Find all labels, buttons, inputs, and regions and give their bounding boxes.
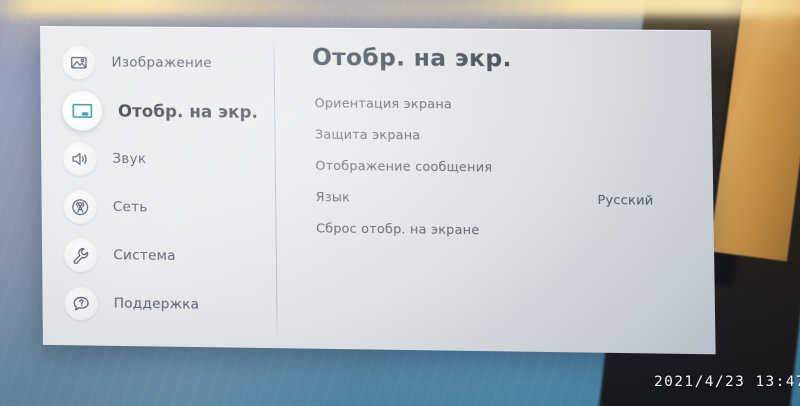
network-antenna-icon [64, 190, 97, 223]
menu-item-reset-osd[interactable]: Сброс отобр. на экране [275, 212, 714, 248]
menu-item-label: Сброс отобр. на экране [316, 220, 480, 237]
menu-item-label: Отображение сообщения [315, 158, 492, 175]
speaker-icon [63, 142, 96, 175]
ceiling-light-strip [0, 0, 800, 16]
menu-item-screen-protection[interactable]: Защита экрана [274, 118, 712, 153]
sidebar-item-label: Система [113, 247, 176, 264]
sidebar-item-label: Звук [112, 151, 146, 167]
osd-surface: Изображение Отобр. на экр. [40, 26, 716, 354]
sidebar-item-support[interactable]: Поддержка [42, 279, 276, 330]
sidebar-item-system[interactable]: Система [42, 230, 276, 281]
sidebar-item-label: Поддержка [114, 296, 200, 313]
menu-item-label: Ориентация экрана [315, 95, 453, 111]
sidebar-item-on-screen-display[interactable]: Отобр. на экр. [41, 86, 275, 136]
page-title: Отобр. на экр. [312, 45, 512, 73]
menu-item-value: Русский [597, 192, 684, 208]
wrench-icon [64, 238, 97, 272]
menu-item-message-display[interactable]: Отображение сообщения [275, 149, 713, 185]
camera-timestamp: 2021/4/23 13:47 [654, 374, 800, 390]
sidebar-item-label: Отобр. на экр. [118, 101, 258, 121]
monitor-icon [63, 91, 102, 130]
help-bubble-icon [64, 286, 97, 320]
sidebar-item-sound[interactable]: Звук [41, 134, 275, 184]
sidebar-item-label: Изображение [111, 54, 212, 71]
settings-menu-list: Ориентация экрана Защита экрана Отображе… [274, 87, 714, 248]
picture-icon [62, 46, 95, 79]
sidebar-item-image[interactable]: Изображение [40, 38, 274, 88]
projected-osd-panel: Изображение Отобр. на экр. [40, 26, 716, 354]
settings-content-panel: Отобр. на экр. Ориентация экрана Защита … [273, 27, 715, 354]
menu-item-label: Защита экрана [315, 126, 421, 142]
menu-item-language[interactable]: Язык Русский [275, 181, 714, 217]
sidebar-item-network[interactable]: Сеть [41, 182, 275, 233]
menu-item-screen-orientation[interactable]: Ориентация экрана [274, 87, 712, 122]
sidebar-item-label: Сеть [113, 199, 148, 215]
settings-sidebar: Изображение Отобр. на экр. [40, 26, 277, 348]
menu-item-label: Язык [316, 189, 351, 205]
